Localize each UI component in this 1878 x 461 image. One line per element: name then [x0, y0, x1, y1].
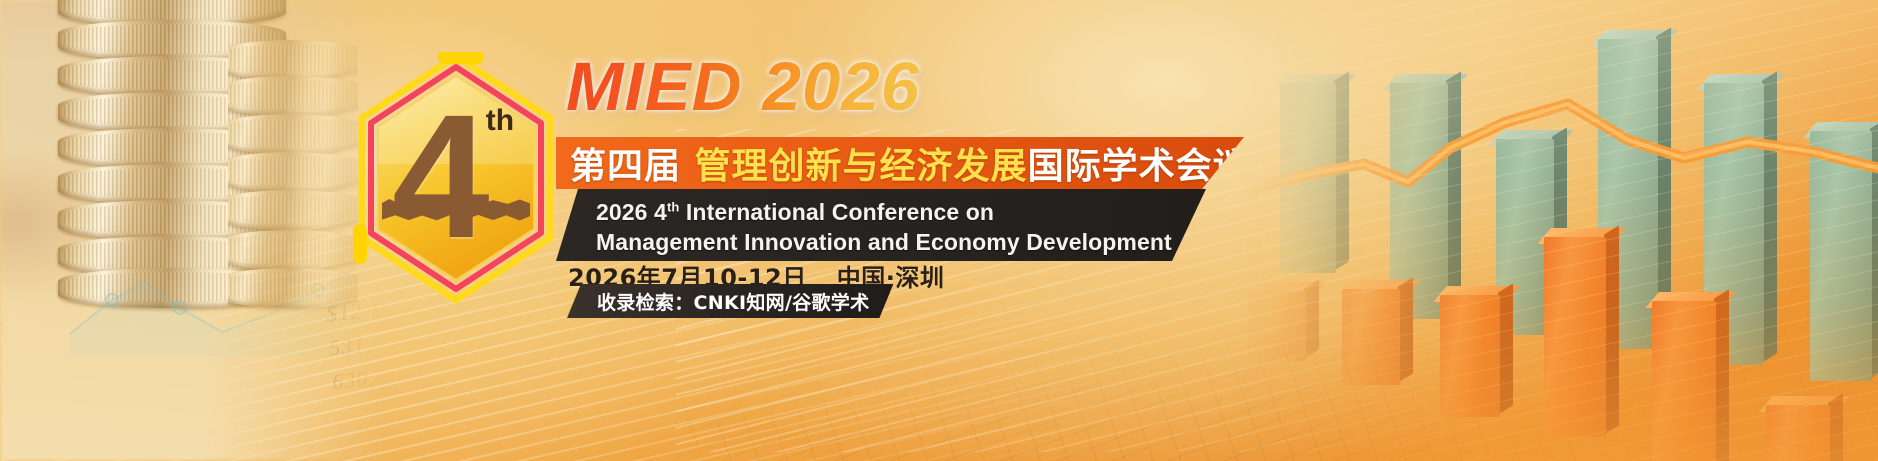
document-numbers-texture: $12,101 531,046 630,830 [164, 290, 412, 413]
english-subtitle-line1-pre: 2026 4 [596, 199, 667, 225]
hexagon-badge-icon [352, 52, 560, 304]
english-subtitle-band: 2026 4th International Conference on Man… [556, 189, 1206, 261]
conference-title-main: MIED 2026 [566, 52, 920, 121]
english-subtitle-ordinal: th [667, 199, 679, 214]
chinese-title-topic: 管理创新与经济发展 [681, 146, 1028, 187]
chart-overlay-haze [1238, 0, 1878, 461]
bar-chart-illustration [1238, 0, 1878, 461]
conference-banner: $12,101 531,046 630,830 [0, 0, 1878, 461]
coin-stack-photo: $12,101 531,046 630,830 [0, 0, 390, 461]
english-subtitle-line2: Management Innovation and Economy Develo… [596, 227, 1172, 257]
indexing-badge: 收录检索：CNKI知网/谷歌学术 [567, 284, 893, 318]
chinese-title-edition: 第四届 [570, 146, 681, 187]
indexing-badge-label: 收录检索：CNKI知网/谷歌学术 [597, 288, 869, 315]
chinese-title-ribbon: 第四届 管理创新与经济发展国际学术会议 [556, 137, 1244, 189]
english-subtitle: 2026 4th International Conference on Man… [596, 197, 1172, 258]
conference-edition-logo: 4 th [352, 52, 560, 304]
english-subtitle-line1: 2026 4th International Conference on [596, 197, 1172, 227]
chinese-title: 第四届 管理创新与经济发展国际学术会议 [570, 137, 1250, 189]
english-subtitle-line1-post: International Conference on [679, 199, 994, 225]
